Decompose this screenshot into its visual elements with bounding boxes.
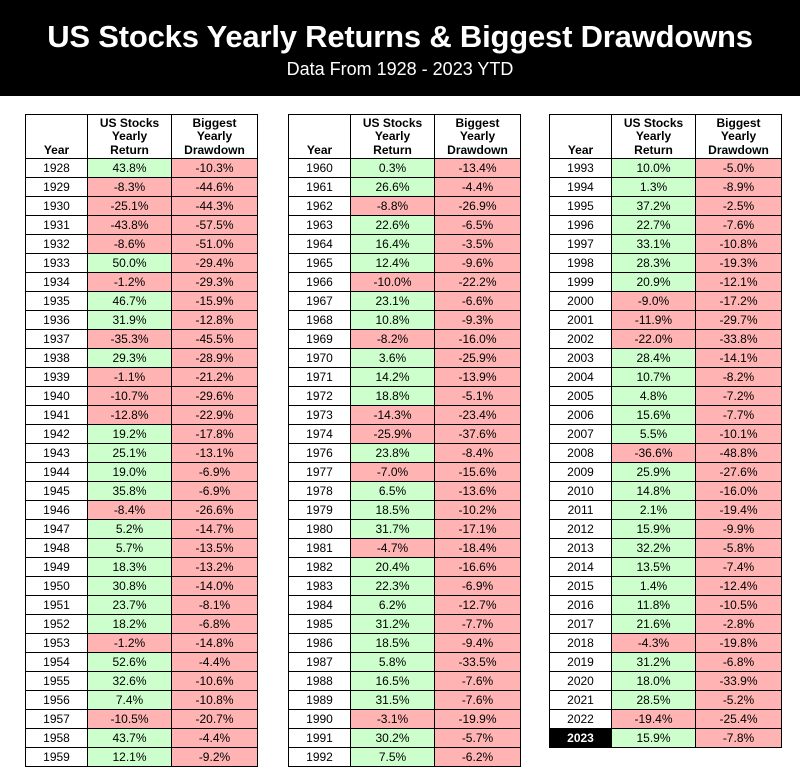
cell-biggest-drawdown: -16.0%	[696, 482, 782, 501]
cell-year: 1939	[26, 368, 88, 387]
cell-year: 2004	[550, 368, 612, 387]
cell-yearly-return: 20.4%	[351, 558, 435, 577]
table-row: 199920.9%-12.1%	[550, 273, 782, 292]
cell-yearly-return: 5.8%	[351, 653, 435, 672]
cell-yearly-return: 26.6%	[351, 178, 435, 197]
table-row: 195123.7%-8.1%	[26, 596, 258, 615]
cell-year: 1935	[26, 292, 88, 311]
cell-yearly-return: 12.1%	[88, 748, 172, 767]
cell-biggest-drawdown: -7.2%	[696, 387, 782, 406]
cell-year: 2006	[550, 406, 612, 425]
table-row: 2001-11.9%-29.7%	[550, 311, 782, 330]
cell-year: 1940	[26, 387, 88, 406]
cell-year: 1971	[289, 368, 351, 387]
table-row: 1932-8.6%-51.0%	[26, 235, 258, 254]
cell-yearly-return: -4.7%	[351, 539, 435, 558]
cell-year: 2008	[550, 444, 612, 463]
table-row: 194535.8%-6.9%	[26, 482, 258, 501]
cell-year: 1962	[289, 197, 351, 216]
table-row: 20054.8%-7.2%	[550, 387, 782, 406]
cell-year: 2011	[550, 501, 612, 520]
cell-biggest-drawdown: -19.8%	[696, 634, 782, 653]
cell-year: 1965	[289, 254, 351, 273]
table-row: 199733.1%-10.8%	[550, 235, 782, 254]
cell-yearly-return: 23.8%	[351, 444, 435, 463]
cell-year: 1979	[289, 501, 351, 520]
cell-yearly-return: 18.2%	[88, 615, 172, 634]
table-row: 198322.3%-6.9%	[289, 577, 521, 596]
cell-biggest-drawdown: -13.2%	[172, 558, 258, 577]
cell-biggest-drawdown: -16.0%	[435, 330, 521, 349]
cell-biggest-drawdown: -23.4%	[435, 406, 521, 425]
cell-biggest-drawdown: -57.5%	[172, 216, 258, 235]
cell-yearly-return: -1.1%	[88, 368, 172, 387]
cell-biggest-drawdown: -10.8%	[172, 691, 258, 710]
cell-biggest-drawdown: -10.2%	[435, 501, 521, 520]
column-header-year: Year	[26, 115, 88, 159]
table-row: 1939-1.1%-21.2%	[26, 368, 258, 387]
cell-biggest-drawdown: -27.6%	[696, 463, 782, 482]
cell-biggest-drawdown: -9.9%	[696, 520, 782, 539]
cell-yearly-return: 30.2%	[351, 729, 435, 748]
cell-biggest-drawdown: -33.8%	[696, 330, 782, 349]
table-row: 201413.5%-7.4%	[550, 558, 782, 577]
cell-year: 2016	[550, 596, 612, 615]
cell-yearly-return: 6.5%	[351, 482, 435, 501]
cell-yearly-return: 16.5%	[351, 672, 435, 691]
cell-biggest-drawdown: -6.9%	[172, 463, 258, 482]
table-row: 198931.5%-7.6%	[289, 691, 521, 710]
column-header-yearly-return: US StocksYearlyReturn	[88, 115, 172, 159]
cell-yearly-return: 37.2%	[612, 197, 696, 216]
cell-yearly-return: -10.5%	[88, 710, 172, 729]
cell-biggest-drawdown: -5.2%	[696, 691, 782, 710]
cell-year: 2002	[550, 330, 612, 349]
cell-biggest-drawdown: -5.0%	[696, 159, 782, 178]
cell-year: 1967	[289, 292, 351, 311]
cell-year: 1993	[550, 159, 612, 178]
cell-yearly-return: -8.8%	[351, 197, 435, 216]
table-row: 1931-43.8%-57.5%	[26, 216, 258, 235]
cell-year: 1974	[289, 425, 351, 444]
cell-biggest-drawdown: -14.7%	[172, 520, 258, 539]
table-header-row: YearUS StocksYearlyReturnBiggestYearlyDr…	[550, 115, 782, 159]
cell-year: 1977	[289, 463, 351, 482]
cell-biggest-drawdown: -19.3%	[696, 254, 782, 273]
cell-yearly-return: 31.5%	[351, 691, 435, 710]
table-row: 196723.1%-6.6%	[289, 292, 521, 311]
table-row: 195912.1%-9.2%	[26, 748, 258, 767]
cell-year: 1941	[26, 406, 88, 425]
cell-biggest-drawdown: -7.6%	[435, 691, 521, 710]
table-row: 198531.2%-7.7%	[289, 615, 521, 634]
cell-biggest-drawdown: -21.2%	[172, 368, 258, 387]
cell-biggest-drawdown: -9.4%	[435, 634, 521, 653]
cell-biggest-drawdown: -26.9%	[435, 197, 521, 216]
cell-biggest-drawdown: -12.7%	[435, 596, 521, 615]
cell-yearly-return: -10.0%	[351, 273, 435, 292]
cell-yearly-return: -12.8%	[88, 406, 172, 425]
cell-yearly-return: -43.8%	[88, 216, 172, 235]
cell-biggest-drawdown: -2.8%	[696, 615, 782, 634]
cell-yearly-return: 2.1%	[612, 501, 696, 520]
cell-yearly-return: 35.8%	[88, 482, 172, 501]
cell-year: 1938	[26, 349, 88, 368]
cell-biggest-drawdown: -44.3%	[172, 197, 258, 216]
cell-year: 1956	[26, 691, 88, 710]
cell-yearly-return: 31.7%	[351, 520, 435, 539]
cell-year: 1981	[289, 539, 351, 558]
cell-yearly-return: 18.3%	[88, 558, 172, 577]
cell-biggest-drawdown: -14.8%	[172, 634, 258, 653]
table-row: 200925.9%-27.6%	[550, 463, 782, 482]
cell-year: 2014	[550, 558, 612, 577]
cell-biggest-drawdown: -29.3%	[172, 273, 258, 292]
cell-yearly-return: 32.2%	[612, 539, 696, 558]
cell-year: 1984	[289, 596, 351, 615]
table-row: 2008-36.6%-48.8%	[550, 444, 782, 463]
cell-biggest-drawdown: -26.6%	[172, 501, 258, 520]
table-row: 1974-25.9%-37.6%	[289, 425, 521, 444]
cell-year: 1968	[289, 311, 351, 330]
cell-year: 1992	[289, 748, 351, 767]
cell-yearly-return: 1.3%	[612, 178, 696, 197]
cell-biggest-drawdown: -6.5%	[435, 216, 521, 235]
cell-year: 1997	[550, 235, 612, 254]
cell-biggest-drawdown: -51.0%	[172, 235, 258, 254]
cell-biggest-drawdown: -20.7%	[172, 710, 258, 729]
cell-year: 1973	[289, 406, 351, 425]
table-row: 19567.4%-10.8%	[26, 691, 258, 710]
cell-yearly-return: -35.3%	[88, 330, 172, 349]
cell-year: 1929	[26, 178, 88, 197]
table-row: 1990-3.1%-19.9%	[289, 710, 521, 729]
table-row: 194325.1%-13.1%	[26, 444, 258, 463]
cell-biggest-drawdown: -5.1%	[435, 387, 521, 406]
cell-yearly-return: 30.8%	[88, 577, 172, 596]
cell-biggest-drawdown: -37.6%	[435, 425, 521, 444]
table-row: 195452.6%-4.4%	[26, 653, 258, 672]
page-subtitle: Data From 1928 - 2023 YTD	[287, 60, 514, 79]
cell-yearly-return: 0.3%	[351, 159, 435, 178]
cell-biggest-drawdown: -14.1%	[696, 349, 782, 368]
cell-biggest-drawdown: -7.4%	[696, 558, 782, 577]
cell-year: 1959	[26, 748, 88, 767]
cell-year: 1998	[550, 254, 612, 273]
cell-yearly-return: 18.5%	[351, 634, 435, 653]
table-row: 193546.7%-15.9%	[26, 292, 258, 311]
cell-biggest-drawdown: -13.5%	[172, 539, 258, 558]
cell-biggest-drawdown: -33.9%	[696, 672, 782, 691]
cell-yearly-return: 22.6%	[351, 216, 435, 235]
cell-biggest-drawdown: -8.9%	[696, 178, 782, 197]
cell-year: 1982	[289, 558, 351, 577]
cell-yearly-return: 22.7%	[612, 216, 696, 235]
cell-year: 1994	[550, 178, 612, 197]
table-row: 1977-7.0%-15.6%	[289, 463, 521, 482]
cell-biggest-drawdown: -13.9%	[435, 368, 521, 387]
cell-yearly-return: 23.1%	[351, 292, 435, 311]
cell-year: 1930	[26, 197, 88, 216]
table-row: 197918.5%-10.2%	[289, 501, 521, 520]
cell-year: 2007	[550, 425, 612, 444]
cell-yearly-return: 28.3%	[612, 254, 696, 273]
cell-year: 1954	[26, 653, 88, 672]
column-header-yearly-return: US StocksYearlyReturn	[612, 115, 696, 159]
table-row: 200615.6%-7.7%	[550, 406, 782, 425]
cell-yearly-return: -19.4%	[612, 710, 696, 729]
table-row: 201332.2%-5.8%	[550, 539, 782, 558]
cell-yearly-return: 43.7%	[88, 729, 172, 748]
table-row: 1946-8.4%-26.6%	[26, 501, 258, 520]
table-row: 198618.5%-9.4%	[289, 634, 521, 653]
cell-year: 1948	[26, 539, 88, 558]
cell-year: 2017	[550, 615, 612, 634]
cell-yearly-return: 16.4%	[351, 235, 435, 254]
cell-yearly-return: 31.2%	[351, 615, 435, 634]
table-row: 1966-10.0%-22.2%	[289, 273, 521, 292]
column-header-biggest-drawdown: BiggestYearlyDrawdown	[172, 115, 258, 159]
cell-biggest-drawdown: -22.9%	[172, 406, 258, 425]
column-header-year: Year	[289, 115, 351, 159]
title-banner: US Stocks Yearly Returns & Biggest Drawd…	[0, 0, 800, 96]
cell-biggest-drawdown: -10.6%	[172, 672, 258, 691]
cell-biggest-drawdown: -44.6%	[172, 178, 258, 197]
cell-yearly-return: 20.9%	[612, 273, 696, 292]
table-row: 200410.7%-8.2%	[550, 368, 782, 387]
cell-yearly-return: 10.0%	[612, 159, 696, 178]
table-row: 2018-4.3%-19.8%	[550, 634, 782, 653]
cell-year: 1986	[289, 634, 351, 653]
cell-biggest-drawdown: -18.4%	[435, 539, 521, 558]
cell-biggest-drawdown: -9.3%	[435, 311, 521, 330]
table-row: 201215.9%-9.9%	[550, 520, 782, 539]
table-row: 198031.7%-17.1%	[289, 520, 521, 539]
cell-year: 1944	[26, 463, 88, 482]
table-row: 198220.4%-16.6%	[289, 558, 521, 577]
cell-yearly-return: 31.2%	[612, 653, 696, 672]
table-row: 1930-25.1%-44.3%	[26, 197, 258, 216]
cell-biggest-drawdown: -7.6%	[696, 216, 782, 235]
cell-biggest-drawdown: -13.6%	[435, 482, 521, 501]
table-row: 20075.5%-10.1%	[550, 425, 782, 444]
cell-yearly-return: -25.1%	[88, 197, 172, 216]
cell-biggest-drawdown: -6.2%	[435, 748, 521, 767]
table-row: 195532.6%-10.6%	[26, 672, 258, 691]
cell-yearly-return: 18.5%	[351, 501, 435, 520]
table-row: 199622.7%-7.6%	[550, 216, 782, 235]
cell-biggest-drawdown: -19.9%	[435, 710, 521, 729]
table-row: 199130.2%-5.7%	[289, 729, 521, 748]
cell-year: 1999	[550, 273, 612, 292]
table-row: 19927.5%-6.2%	[289, 748, 521, 767]
cell-yearly-return: -22.0%	[612, 330, 696, 349]
cell-biggest-drawdown: -12.1%	[696, 273, 782, 292]
table-row: 201014.8%-16.0%	[550, 482, 782, 501]
cell-year: 2010	[550, 482, 612, 501]
cell-year: 1942	[26, 425, 88, 444]
cell-yearly-return: 4.8%	[612, 387, 696, 406]
cell-yearly-return: 15.9%	[612, 729, 696, 748]
table-row: 194419.0%-6.9%	[26, 463, 258, 482]
cell-yearly-return: 5.5%	[612, 425, 696, 444]
cell-biggest-drawdown: -13.4%	[435, 159, 521, 178]
cell-year: 1937	[26, 330, 88, 349]
table-row: 197623.8%-8.4%	[289, 444, 521, 463]
table-row: 201721.6%-2.8%	[550, 615, 782, 634]
table-row: 196126.6%-4.4%	[289, 178, 521, 197]
cell-biggest-drawdown: -10.8%	[696, 235, 782, 254]
cell-biggest-drawdown: -10.5%	[696, 596, 782, 615]
cell-biggest-drawdown: -3.5%	[435, 235, 521, 254]
column-header-biggest-drawdown: BiggestYearlyDrawdown	[435, 115, 521, 159]
cell-yearly-return: 28.4%	[612, 349, 696, 368]
cell-year: 1970	[289, 349, 351, 368]
cell-yearly-return: 18.0%	[612, 672, 696, 691]
cell-yearly-return: -1.2%	[88, 634, 172, 653]
cell-year: 1960	[289, 159, 351, 178]
cell-year: 1931	[26, 216, 88, 235]
table-row: 202315.9%-7.8%	[550, 729, 782, 748]
cell-yearly-return: 28.5%	[612, 691, 696, 710]
cell-year: 1963	[289, 216, 351, 235]
cell-biggest-drawdown: -10.3%	[172, 159, 258, 178]
cell-biggest-drawdown: -4.4%	[435, 178, 521, 197]
table-row: 192843.8%-10.3%	[26, 159, 258, 178]
cell-year: 2000	[550, 292, 612, 311]
table-row: 195218.2%-6.8%	[26, 615, 258, 634]
table-row: 197114.2%-13.9%	[289, 368, 521, 387]
cell-year: 1969	[289, 330, 351, 349]
cell-year: 1943	[26, 444, 88, 463]
cell-biggest-drawdown: -48.8%	[696, 444, 782, 463]
cell-yearly-return: -36.6%	[612, 444, 696, 463]
tables-area: YearUS StocksYearlyReturnBiggestYearlyDr…	[0, 96, 800, 768]
cell-biggest-drawdown: -6.9%	[435, 577, 521, 596]
cell-yearly-return: 3.6%	[351, 349, 435, 368]
cell-biggest-drawdown: -5.8%	[696, 539, 782, 558]
table-row: 196416.4%-3.5%	[289, 235, 521, 254]
table-row: 198816.5%-7.6%	[289, 672, 521, 691]
table-row: 1957-10.5%-20.7%	[26, 710, 258, 729]
table-row: 1929-8.3%-44.6%	[26, 178, 258, 197]
cell-year: 1972	[289, 387, 351, 406]
cell-year: 1928	[26, 159, 88, 178]
returns-table-block-1: YearUS StocksYearlyReturnBiggestYearlyDr…	[25, 114, 258, 767]
table-row: 1953-1.2%-14.8%	[26, 634, 258, 653]
cell-biggest-drawdown: -6.8%	[696, 653, 782, 672]
cell-year: 1991	[289, 729, 351, 748]
cell-yearly-return: 11.8%	[612, 596, 696, 615]
cell-yearly-return: 43.8%	[88, 159, 172, 178]
cell-yearly-return: 12.4%	[351, 254, 435, 273]
table-row: 195843.7%-4.4%	[26, 729, 258, 748]
cell-yearly-return: 1.4%	[612, 577, 696, 596]
column-header-year: Year	[550, 115, 612, 159]
cell-year: 1950	[26, 577, 88, 596]
cell-biggest-drawdown: -15.6%	[435, 463, 521, 482]
cell-yearly-return: 29.3%	[88, 349, 172, 368]
cell-yearly-return: -4.3%	[612, 634, 696, 653]
cell-yearly-return: -25.9%	[351, 425, 435, 444]
returns-table-block-3: YearUS StocksYearlyReturnBiggestYearlyDr…	[549, 114, 782, 748]
cell-biggest-drawdown: -22.2%	[435, 273, 521, 292]
cell-yearly-return: 19.0%	[88, 463, 172, 482]
table-row: 196512.4%-9.6%	[289, 254, 521, 273]
cell-year: 1949	[26, 558, 88, 577]
cell-year: 2020	[550, 672, 612, 691]
cell-year: 1934	[26, 273, 88, 292]
cell-yearly-return: 5.7%	[88, 539, 172, 558]
cell-yearly-return: 31.9%	[88, 311, 172, 330]
cell-yearly-return: 19.2%	[88, 425, 172, 444]
table-row: 197218.8%-5.1%	[289, 387, 521, 406]
cell-year: 1955	[26, 672, 88, 691]
cell-biggest-drawdown: -29.7%	[696, 311, 782, 330]
cell-year: 1985	[289, 615, 351, 634]
page-title: US Stocks Yearly Returns & Biggest Drawd…	[47, 21, 753, 54]
cell-year: 1964	[289, 235, 351, 254]
cell-year: 1932	[26, 235, 88, 254]
cell-biggest-drawdown: -2.5%	[696, 197, 782, 216]
table-row: 19875.8%-33.5%	[289, 653, 521, 672]
cell-biggest-drawdown: -12.8%	[172, 311, 258, 330]
cell-biggest-drawdown: -29.6%	[172, 387, 258, 406]
table-row: 1940-10.7%-29.6%	[26, 387, 258, 406]
cell-yearly-return: 6.2%	[351, 596, 435, 615]
cell-biggest-drawdown: -8.2%	[696, 368, 782, 387]
cell-year: 1990	[289, 710, 351, 729]
cell-biggest-drawdown: -33.5%	[435, 653, 521, 672]
table-row: 201931.2%-6.8%	[550, 653, 782, 672]
cell-year: 1995	[550, 197, 612, 216]
cell-yearly-return: 7.4%	[88, 691, 172, 710]
cell-year: 1957	[26, 710, 88, 729]
cell-yearly-return: 15.6%	[612, 406, 696, 425]
table-row: 1981-4.7%-18.4%	[289, 539, 521, 558]
cell-year-highlighted: 2023	[550, 729, 612, 748]
table-row: 193631.9%-12.8%	[26, 311, 258, 330]
cell-biggest-drawdown: -7.7%	[435, 615, 521, 634]
cell-year: 2021	[550, 691, 612, 710]
cell-yearly-return: 10.7%	[612, 368, 696, 387]
cell-year: 2013	[550, 539, 612, 558]
table-header-row: YearUS StocksYearlyReturnBiggestYearlyDr…	[26, 115, 258, 159]
cell-yearly-return: 23.7%	[88, 596, 172, 615]
cell-year: 1961	[289, 178, 351, 197]
cell-year: 1953	[26, 634, 88, 653]
table-row: 20112.1%-19.4%	[550, 501, 782, 520]
cell-biggest-drawdown: -16.6%	[435, 558, 521, 577]
cell-year: 1976	[289, 444, 351, 463]
cell-biggest-drawdown: -10.1%	[696, 425, 782, 444]
table-row: 19846.2%-12.7%	[289, 596, 521, 615]
cell-biggest-drawdown: -7.7%	[696, 406, 782, 425]
cell-biggest-drawdown: -28.9%	[172, 349, 258, 368]
table-row: 193829.3%-28.9%	[26, 349, 258, 368]
cell-biggest-drawdown: -17.2%	[696, 292, 782, 311]
cell-yearly-return: 7.5%	[351, 748, 435, 767]
cell-biggest-drawdown: -6.8%	[172, 615, 258, 634]
cell-yearly-return: 14.8%	[612, 482, 696, 501]
cell-yearly-return: 10.8%	[351, 311, 435, 330]
cell-year: 2001	[550, 311, 612, 330]
cell-year: 1947	[26, 520, 88, 539]
cell-biggest-drawdown: -25.4%	[696, 710, 782, 729]
cell-biggest-drawdown: -13.1%	[172, 444, 258, 463]
returns-table-block-2: YearUS StocksYearlyReturnBiggestYearlyDr…	[288, 114, 521, 767]
cell-yearly-return: 13.5%	[612, 558, 696, 577]
